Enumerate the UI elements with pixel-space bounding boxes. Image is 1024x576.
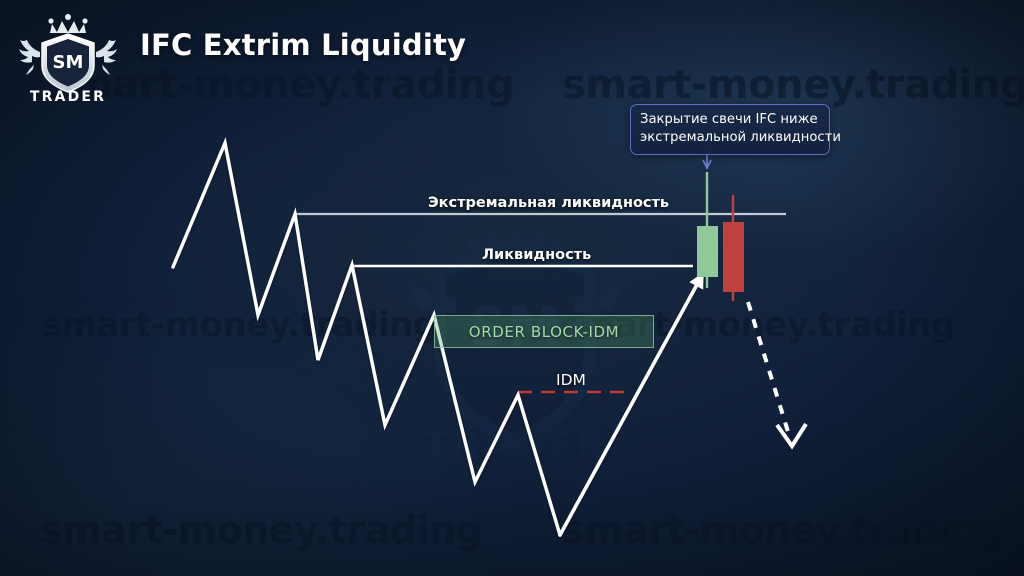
ifc-close-callout: Закрытие свечи IFC ниже экстремальной ли… (630, 104, 830, 155)
callout-line-1: Закрытие свечи IFC ниже (640, 111, 820, 129)
projection-arrow-down (748, 302, 806, 446)
extreme-liquidity-label: Экстремальная ликвидность (428, 195, 669, 211)
diagram-canvas: smart-money.tradingsmart-money.tradingsm… (0, 0, 1024, 576)
idm-label: IDM (556, 371, 586, 389)
ifc-bearish-candle (723, 195, 744, 301)
liquidity-label: Ликвидность (482, 247, 591, 263)
callout-line-2: экстремальной ликвидности (640, 129, 820, 147)
price-chart (0, 0, 1024, 576)
order-block-label: ORDER BLOCK-IDM (469, 323, 619, 341)
order-block-zone: ORDER BLOCK-IDM (434, 315, 654, 348)
ifc-bullish-candle (697, 172, 718, 288)
